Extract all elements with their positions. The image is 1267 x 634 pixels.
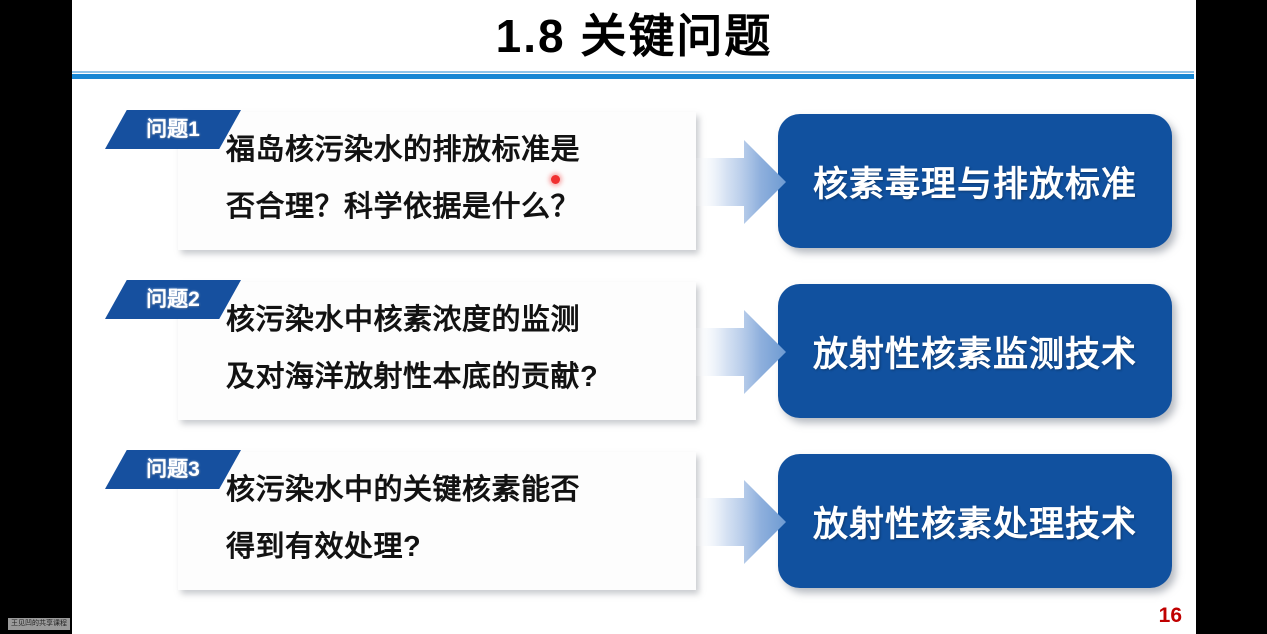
- answer-text: 放射性核素处理技术: [778, 454, 1172, 588]
- title-underline-thin: [72, 71, 1194, 73]
- question-line: 核污染水中的关键核素能否: [226, 462, 688, 519]
- answer-text: 核素毒理与排放标准: [778, 114, 1172, 248]
- answer-box: 核素毒理与排放标准: [778, 114, 1172, 248]
- answer-box: 放射性核素处理技术: [778, 454, 1172, 588]
- watermark-label: 王见凹的共享课程: [8, 618, 70, 630]
- title-underline-thick: [72, 74, 1194, 79]
- problem-tag-label: 问题3: [105, 450, 241, 489]
- question-line: 及对海洋放射性本底的贡献?: [226, 349, 688, 406]
- question-text: 核污染水中的关键核素能否 得到有效处理?: [226, 462, 688, 576]
- page-title: 1.8 关键问题: [72, 4, 1196, 68]
- slide-canvas: 1.8 关键问题 福岛核污染水的排放标准是 否合理？科学依据是什么？ 问题1: [72, 0, 1196, 634]
- question-card: 核污染水中核素浓度的监测 及对海洋放射性本底的贡献?: [178, 282, 696, 420]
- letterbox-right: [1196, 0, 1267, 634]
- answer-box: 放射性核素监测技术: [778, 284, 1172, 418]
- slide-stage: 1.8 关键问题 福岛核污染水的排放标准是 否合理？科学依据是什么？ 问题1: [0, 0, 1267, 634]
- page-number: 16: [1159, 604, 1182, 628]
- arrow-right-icon: [694, 304, 786, 400]
- laser-pointer-dot: [551, 175, 560, 184]
- question-text: 核污染水中核素浓度的监测 及对海洋放射性本底的贡献?: [226, 292, 688, 406]
- question-card: 核污染水中的关键核素能否 得到有效处理?: [178, 452, 696, 590]
- problem-tag-label: 问题1: [105, 110, 241, 149]
- question-line: 得到有效处理?: [226, 519, 688, 576]
- letterbox-left: [0, 0, 72, 634]
- problem-row: 核污染水中的关键核素能否 得到有效处理? 问题3: [72, 436, 1196, 606]
- problem-row: 核污染水中核素浓度的监测 及对海洋放射性本底的贡献? 问题2: [72, 266, 1196, 436]
- question-line: 否合理？科学依据是什么？: [226, 179, 688, 236]
- problem-row: 福岛核污染水的排放标准是 否合理？科学依据是什么？ 问题1: [72, 96, 1196, 266]
- question-line: 核污染水中核素浓度的监测: [226, 292, 688, 349]
- question-card: 福岛核污染水的排放标准是 否合理？科学依据是什么？: [178, 112, 696, 250]
- problem-tag-label: 问题2: [105, 280, 241, 319]
- answer-text: 放射性核素监测技术: [778, 284, 1172, 418]
- question-text: 福岛核污染水的排放标准是 否合理？科学依据是什么？: [226, 122, 688, 236]
- arrow-right-icon: [694, 474, 786, 570]
- question-line: 福岛核污染水的排放标准是: [226, 122, 688, 179]
- arrow-right-icon: [694, 134, 786, 230]
